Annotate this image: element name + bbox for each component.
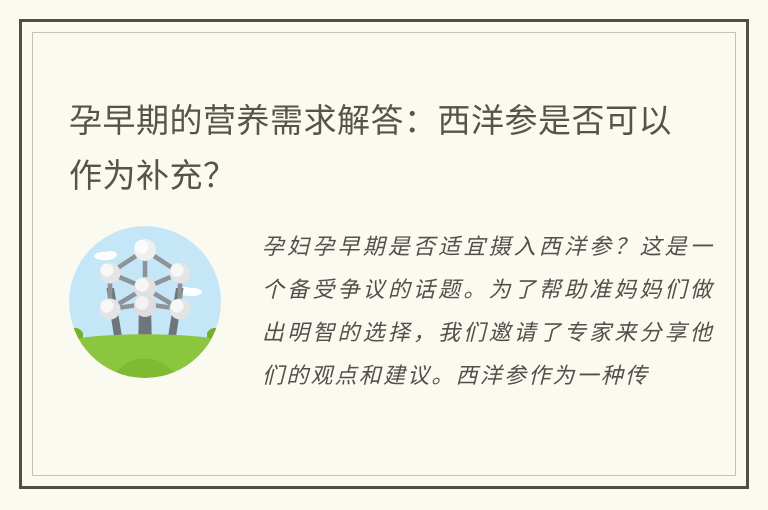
article-card-page: 孕早期的营养需求解答：西洋参是否可以作为补充？ — [0, 0, 768, 510]
atomium-landmark-illustration — [69, 226, 221, 378]
card-content: 孕早期的营养需求解答：西洋参是否可以作为补充？ — [33, 33, 735, 475]
decorative-outer-frame: 孕早期的营养需求解答：西洋参是否可以作为补充？ — [19, 19, 749, 489]
page-title: 孕早期的营养需求解答：西洋参是否可以作为补充？ — [69, 93, 694, 203]
article-excerpt: 孕妇孕早期是否适宜摄入西洋参？这是一个备受争议的话题。为了帮助准妈妈们做出明智的… — [262, 225, 714, 397]
article-thumbnail — [69, 226, 221, 378]
decorative-inner-frame: 孕早期的营养需求解答：西洋参是否可以作为补充？ — [32, 32, 736, 476]
